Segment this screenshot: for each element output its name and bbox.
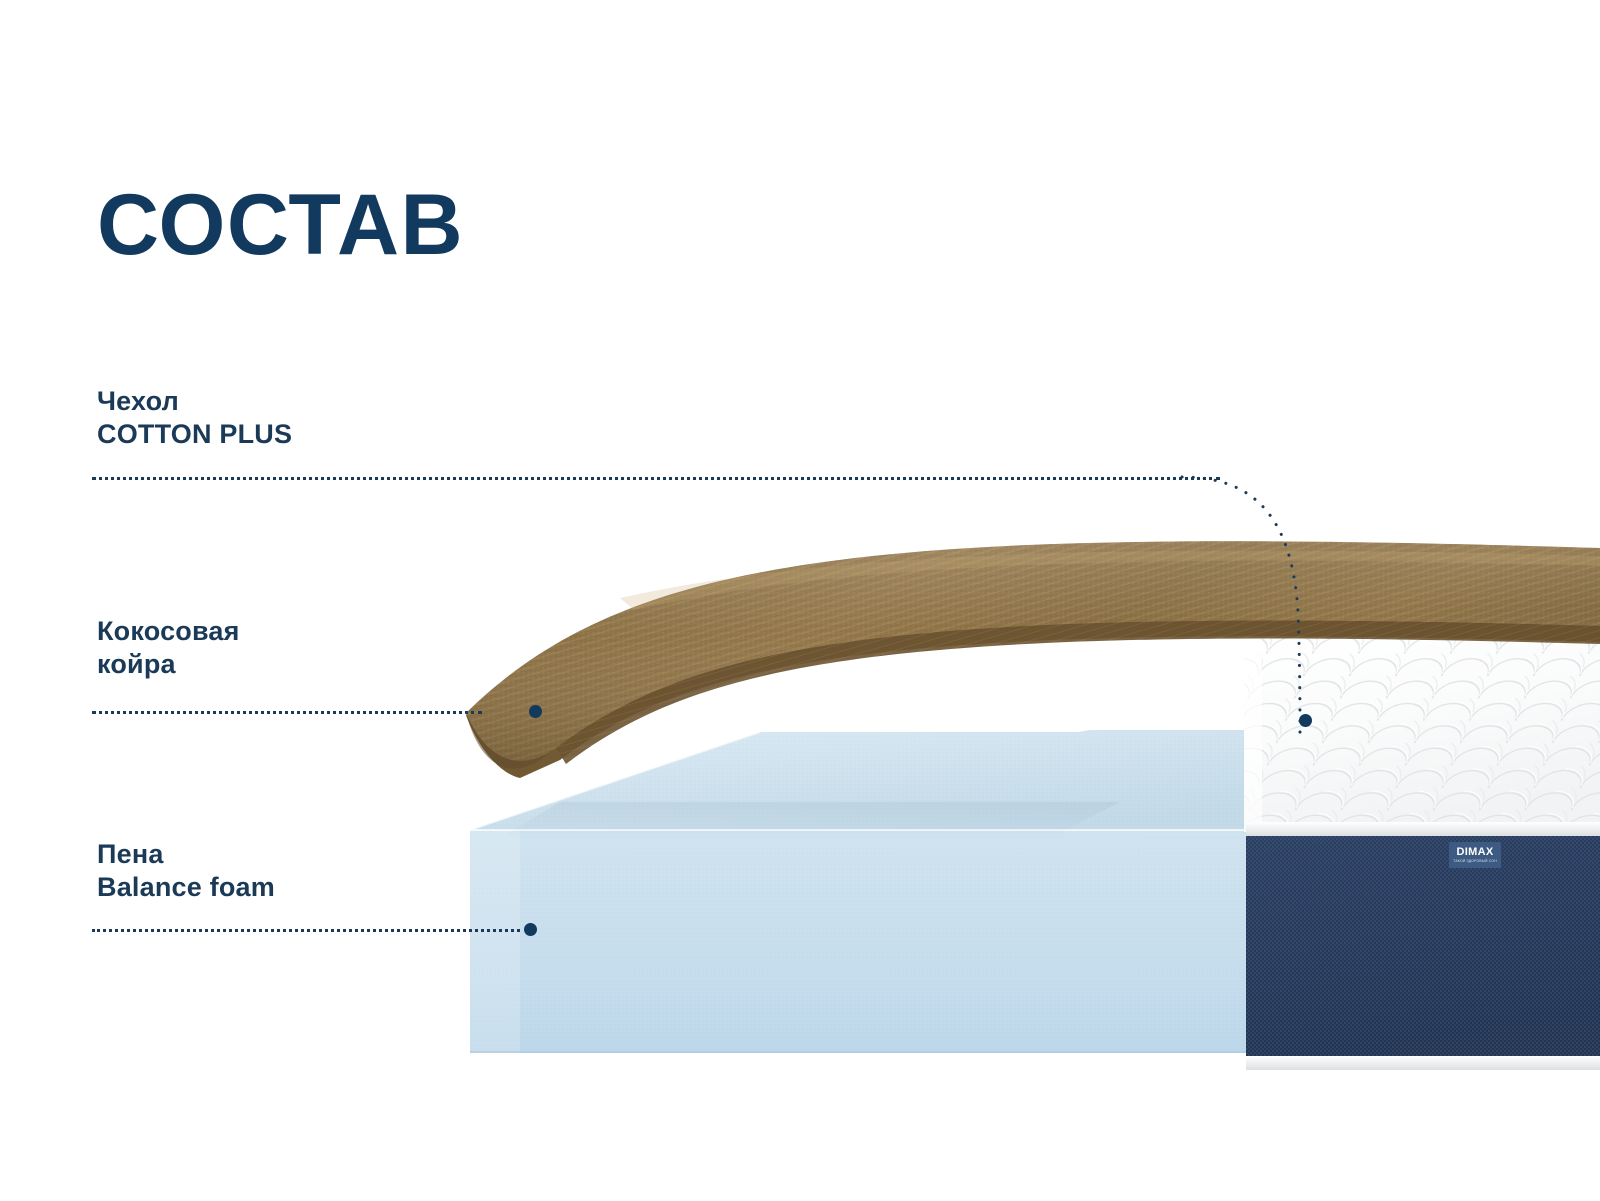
- callout-coir: Кокосовая койра: [97, 615, 240, 681]
- callout-cover-line2: COTTON PLUS: [97, 418, 292, 451]
- callout-foam-line2: Balance foam: [97, 871, 275, 904]
- side-panel: [1246, 822, 1600, 1070]
- callout-cover-line1: Чехол: [97, 385, 292, 418]
- callout-cover: Чехол COTTON PLUS: [97, 385, 292, 451]
- callout-coir-line1: Кокосовая: [97, 615, 240, 648]
- mattress-cutaway-illustration: DIMAX ТАКОЙ ЗДОРОВЫЙ СОН: [0, 430, 1600, 1130]
- leader-endpoint-foam: [524, 923, 537, 936]
- leader-line-foam: [92, 929, 520, 932]
- callout-foam-line1: Пена: [97, 838, 275, 871]
- leader-line-cover: [92, 477, 1220, 480]
- brand-patch: [1449, 842, 1501, 868]
- balance-foam-block: [470, 730, 1246, 1053]
- callout-foam: Пена Balance foam: [97, 838, 275, 904]
- callout-coir-line2: койра: [97, 648, 240, 681]
- quilted-cover-top: [1244, 633, 1600, 832]
- leader-line-coir: [92, 711, 482, 714]
- slide-canvas: СОСТАВ: [0, 0, 1600, 1201]
- page-title: СОСТАВ: [97, 182, 464, 268]
- leader-endpoint-coir: [529, 705, 542, 718]
- leader-endpoint-cover: [1299, 714, 1312, 727]
